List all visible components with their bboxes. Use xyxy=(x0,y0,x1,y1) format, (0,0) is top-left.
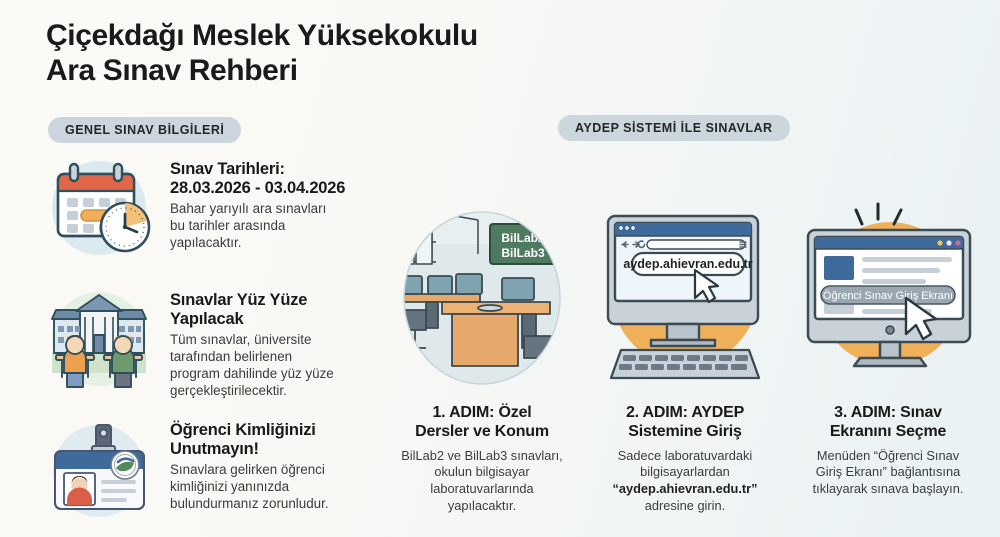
step-title: 2. ADIM: AYDEP Sistemine Giriş xyxy=(585,404,785,442)
feature-item-face-to-face: Sınavlar Yüz Yüze Yapılacak Tüm sınavlar… xyxy=(40,283,390,400)
student-id-card-icon xyxy=(40,413,158,525)
step-description-text-pre: Sadece laboratuvardaki bilgisayarlardan xyxy=(618,448,752,480)
step-title: 3. ADIM: Sınav Ekranını Seçme xyxy=(788,404,988,442)
desktop-browser-illustration: aydep.ahievran.edu.tr xyxy=(585,198,785,398)
feature-text-block: Sınav Tarihleri: 28.03.2026 - 03.04.2026… xyxy=(170,152,345,252)
browser-address-value: aydep.ahievran.edu.tr xyxy=(623,257,752,271)
exam-screen-selection-illustration: Öğrenci Sınav Giriş Ekranı xyxy=(788,198,988,398)
feature-description: Sınavlara gelirken öğrenci kimliğinizi y… xyxy=(170,462,329,513)
feature-item-student-id: Öğrenci Kimliğinizi Unutmayın! Sınavlara… xyxy=(40,413,390,525)
step-card-3: Öğrenci Sınav Giriş Ekranı 3. ADIM: Sına… xyxy=(788,198,988,498)
feature-description: Tüm sınavlar, üniversite tarafından beli… xyxy=(170,332,334,400)
feature-text-block: Öğrenci Kimliğinizi Unutmayın! Sınavlara… xyxy=(170,413,329,513)
step-description-text: BilLab2 ve BilLab3 sınavları, okulun bil… xyxy=(401,448,562,513)
step-card-1: BilLab2 BilLab3 xyxy=(382,198,582,514)
calendar-clock-icon xyxy=(40,152,158,264)
lab-board-line-2: BilLab3 xyxy=(501,246,545,260)
step-description-text-post: adresine girin. xyxy=(645,498,725,513)
feature-title: Sınav Tarihleri: 28.03.2026 - 03.04.2026 xyxy=(170,160,345,198)
step-description-text: Menüden “Öğrenci Sınav Giriş Ekranı” bağ… xyxy=(813,448,964,496)
feature-text-block: Sınavlar Yüz Yüze Yapılacak Tüm sınavlar… xyxy=(170,283,334,400)
feature-item-exam-dates: Sınav Tarihleri: 28.03.2026 - 03.04.2026… xyxy=(40,152,390,264)
step-card-2: aydep.ahievran.edu.tr 2. ADIM: AYDEP Sis… xyxy=(585,198,785,514)
page-title: Çiçekdağı Meslek Yüksekokulu Ara Sınav R… xyxy=(46,19,478,89)
section-pill-general-exam-info: GENEL SINAV BİLGİLERİ xyxy=(48,117,241,143)
campus-students-icon xyxy=(40,283,158,395)
feature-title: Sınavlar Yüz Yüze Yapılacak xyxy=(170,291,334,329)
step-description: BilLab2 ve BilLab3 sınavları, okulun bil… xyxy=(382,448,582,515)
feature-title: Öğrenci Kimliğinizi Unutmayın! xyxy=(170,421,329,459)
step-title: 1. ADIM: Özel Dersler ve Konum xyxy=(382,404,582,442)
step-description: Menüden “Öğrenci Sınav Giriş Ekranı” bağ… xyxy=(788,448,988,498)
computer-lab-illustration: BilLab2 BilLab3 xyxy=(382,198,582,398)
exam-entry-link-label: Öğrenci Sınav Giriş Ekranı xyxy=(823,290,953,302)
feature-description: Bahar yarıyılı ara sınavları bu tarihler… xyxy=(170,201,345,252)
step-description-emphasis: “aydep.ahievran.edu.tr” xyxy=(612,481,757,496)
section-pill-aydep-exams: AYDEP SİSTEMİ İLE SINAVLAR xyxy=(558,115,790,141)
step-description: Sadece laboratuvardaki bilgisayarlardan … xyxy=(585,448,785,515)
